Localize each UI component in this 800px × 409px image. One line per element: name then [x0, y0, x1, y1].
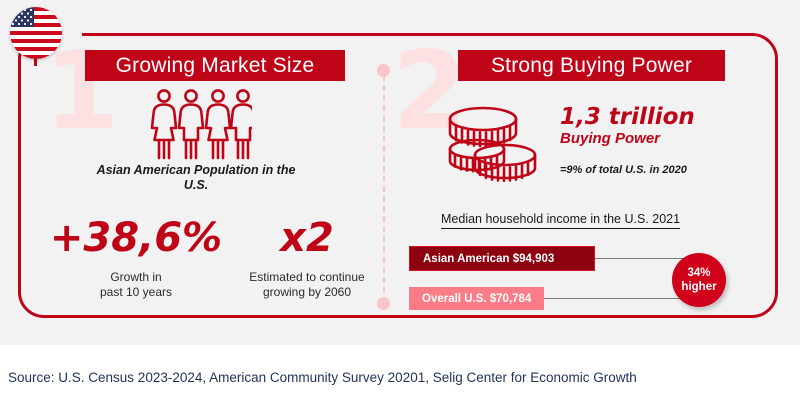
stat-growth-label: Growth in past 10 years: [46, 270, 226, 300]
divider-dot-top: [377, 64, 390, 77]
population-caption: Asian American Population in the U.S.: [96, 163, 296, 193]
section-title-strong-buying-power: Strong Buying Power: [458, 50, 725, 81]
coin-stack-icon: [443, 105, 543, 192]
infographic-canvas: 1 2 Growing Market Size: [0, 0, 800, 409]
percent-higher-word: higher: [681, 280, 716, 294]
section-title-growing-market-size: Growing Market Size: [85, 50, 345, 81]
income-chart-heading: Median household income in the U.S. 2021: [441, 212, 680, 229]
stat-growth: +38,6% Growth in past 10 years: [46, 218, 226, 300]
stat-multiplier: x2 Estimated to continue growing by 2060: [222, 218, 392, 300]
buying-power-value: 1,3 trillion: [560, 105, 695, 129]
stat-growth-value: +38,6%: [46, 218, 226, 258]
source-citation: Source: U.S. Census 2023-2024, American …: [8, 370, 637, 385]
bar-overall-us-label: Overall U.S. $70,784: [422, 293, 531, 305]
bar-asian-american: Asian American $94,903: [409, 246, 595, 271]
stat-multiplier-label: Estimated to continue growing by 2060: [222, 270, 392, 300]
four-people-icon: [148, 88, 252, 165]
buying-power-subtitle: Buying Power: [560, 130, 660, 147]
bar-asian-american-label: Asian American $94,903: [423, 253, 554, 265]
bar-overall-us: Overall U.S. $70,784: [409, 287, 544, 310]
percent-higher-value: 34%: [687, 266, 710, 280]
percent-higher-badge: 34% higher: [672, 253, 726, 307]
connector-line-overall: [544, 298, 687, 299]
buying-power-note: =9% of total U.S. in 2020: [560, 164, 687, 176]
stat-multiplier-value: x2: [222, 218, 392, 258]
connector-line-asian: [595, 258, 687, 259]
